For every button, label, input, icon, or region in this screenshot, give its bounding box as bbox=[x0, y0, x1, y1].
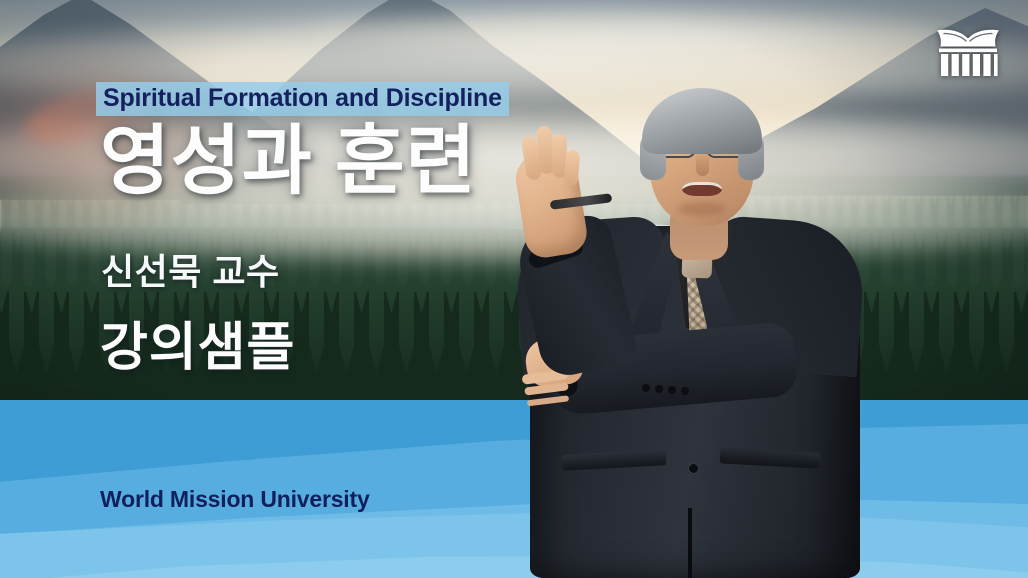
sleeve-buttons bbox=[642, 384, 650, 392]
finger-4 bbox=[564, 150, 580, 187]
presenter-figure bbox=[492, 0, 922, 578]
open-book-over-columns-icon bbox=[932, 22, 1004, 84]
organization-name: World Mission University bbox=[100, 486, 370, 513]
sample-label: 강의샘플 bbox=[100, 305, 295, 380]
university-logo bbox=[932, 22, 1004, 84]
nose bbox=[696, 152, 709, 176]
hair bbox=[642, 88, 762, 154]
jacket-vent bbox=[688, 508, 692, 578]
lecture-title-slide: Spiritual Formation and Discipline 영성과 훈… bbox=[0, 0, 1028, 578]
presenter-name: 신선묵 교수 bbox=[101, 243, 280, 295]
jacket-button bbox=[688, 463, 699, 474]
mouth bbox=[682, 182, 722, 196]
page-title: 영성과 훈련 bbox=[100, 124, 477, 200]
chin-shadow bbox=[678, 202, 726, 216]
subtitle-english: Spiritual Formation and Discipline bbox=[96, 82, 509, 116]
